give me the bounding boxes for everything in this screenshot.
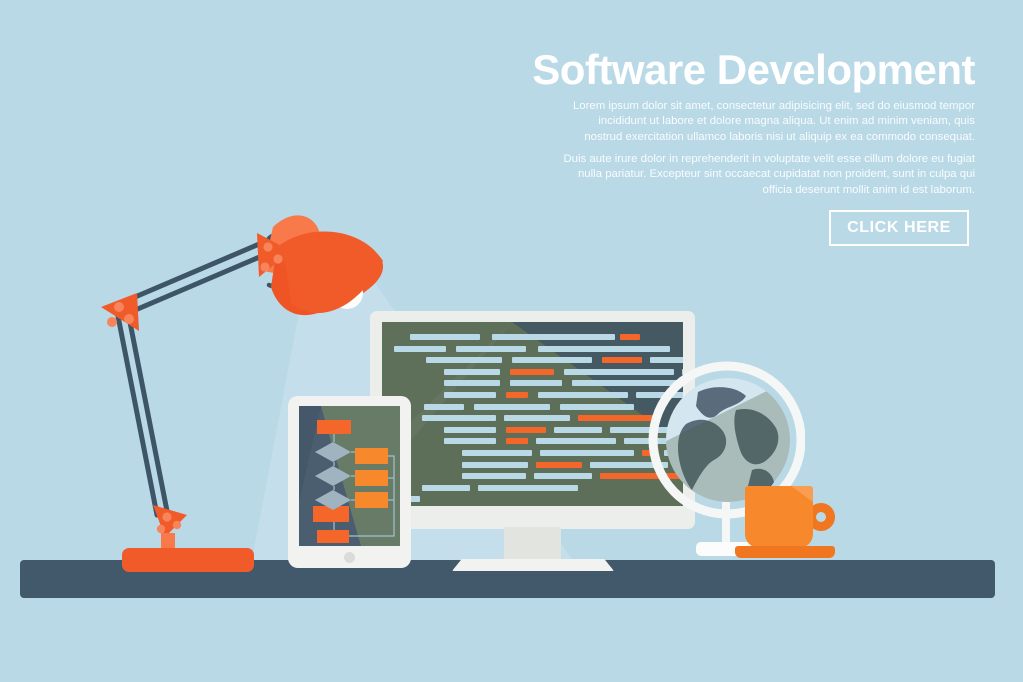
code-line-segment (444, 380, 500, 386)
code-line-segment (602, 357, 642, 363)
intro-paragraph-1: Lorem ipsum dolor sit amet, consectetur … (560, 99, 975, 145)
flowchart-diagram (299, 406, 400, 546)
code-line-segment (620, 334, 640, 340)
click-here-button[interactable]: CLICK HERE (829, 210, 969, 246)
code-line-segment (536, 438, 616, 444)
code-line-segment (538, 346, 670, 352)
code-line-segment (424, 404, 464, 410)
code-line-segment (506, 438, 528, 444)
code-line-segment (492, 334, 615, 340)
code-line-segment (506, 427, 546, 433)
code-line-segment (444, 392, 496, 398)
code-line-segment (394, 346, 446, 352)
action-box-1 (355, 448, 388, 464)
code-line-segment (444, 427, 496, 433)
code-line-segment (554, 427, 602, 433)
code-line-segment (422, 485, 470, 491)
monitor-screen (382, 322, 683, 506)
code-line-segment (478, 485, 578, 491)
decision-1 (315, 442, 351, 462)
code-line-segment (506, 392, 528, 398)
code-line-segment (474, 404, 550, 410)
tablet-screen (299, 406, 400, 546)
action-box-2 (355, 470, 388, 486)
code-line-segment (540, 450, 634, 456)
tablet-device (288, 396, 411, 568)
intro-paragraph-2: Duis aute irure dolor in reprehenderit i… (560, 152, 975, 198)
code-line-segment (444, 369, 500, 375)
code-line-segment (510, 369, 554, 375)
code-line-segment (538, 392, 628, 398)
code-line-segment (410, 334, 480, 340)
tablet-bezel (288, 396, 411, 568)
code-line-segment (560, 404, 634, 410)
code-line-segment (426, 357, 502, 363)
code-line-segment (534, 473, 592, 479)
code-line-segment (510, 380, 562, 386)
code-line-segment (444, 438, 496, 444)
tablet-home-button[interactable] (344, 552, 355, 563)
code-line-segment (536, 462, 582, 468)
code-line-segment (422, 415, 496, 421)
cup-highlight (745, 486, 813, 548)
start-box (317, 420, 351, 434)
code-line-segment (456, 346, 526, 352)
code-line-segment (512, 357, 592, 363)
coffee-cup (735, 478, 845, 568)
code-line-segment (462, 473, 526, 479)
end-box (317, 530, 349, 543)
decision-2 (315, 466, 351, 486)
action-box-3 (355, 492, 388, 508)
code-line-segment (462, 450, 532, 456)
code-line-segment (504, 415, 570, 421)
monitor-base (452, 559, 614, 571)
page-title: Software Development (430, 46, 975, 94)
cup-saucer (735, 546, 835, 558)
code-line-segment (462, 462, 528, 468)
illustration-canvas: Software Development Lorem ipsum dolor s… (0, 0, 1023, 682)
